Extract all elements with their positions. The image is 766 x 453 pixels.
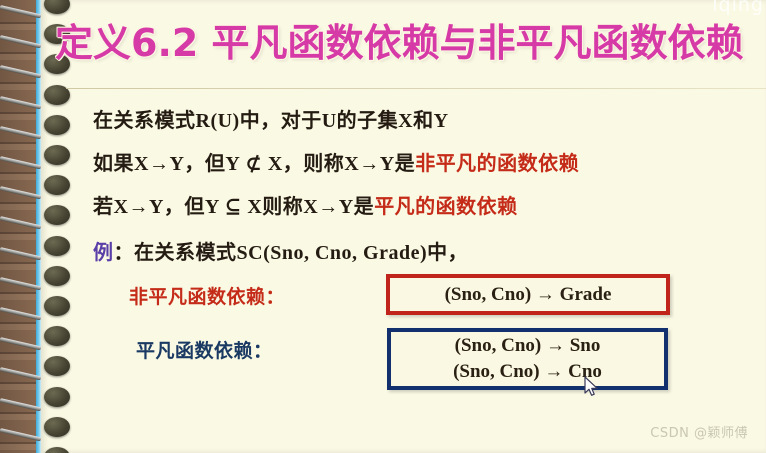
title-divider: [66, 88, 766, 89]
slide-title: 定义6.2 平凡函数依赖与非平凡函数依赖: [55, 12, 744, 67]
definition-line-3: 若X→Y，但Y ⊆ X则称X→Y是平凡的函数依赖: [93, 190, 518, 219]
definition-line-3-prefix: 若X→Y，但Y ⊆ X则称X→Y是: [93, 196, 374, 218]
spiral-ring: [44, 115, 70, 135]
spiral-ring: [44, 387, 70, 407]
definition-line-2-prefix: 如果X→Y，但Y ⊄ X，则称X→Y是: [93, 153, 415, 175]
trivial-dependency-box: (Sno, Cno) → Sno (Sno, Cno) → Cno: [387, 328, 668, 390]
trivial-fd-expression-1: (Sno, Cno) → Sno: [455, 333, 601, 359]
spiral-ring: [44, 417, 70, 437]
mouse-cursor-icon: [584, 376, 599, 398]
nontrivial-dependency-box: (Sno, Cno) → Grade: [386, 274, 670, 315]
spiral-ring: [44, 236, 70, 256]
definition-line-2: 如果X→Y，但Y ⊄ X，则称X→Y是非平凡的函数依赖: [93, 147, 579, 176]
definition-line-3-highlight: 平凡的函数依赖: [374, 196, 518, 218]
definition-line-1: 在关系模式R(U)中，对于U的子集X和Y: [93, 104, 449, 133]
example-line: 例：在关系模式SC(Sno, Cno, Grade)中，: [93, 236, 468, 265]
spiral-ring: [44, 296, 70, 316]
spiral-ring: [44, 266, 70, 286]
slide-title-band: 定义6.2 平凡函数依赖与非平凡函数依赖: [55, 8, 766, 70]
label-nontrivial-dependency: 非平凡函数依赖：: [129, 282, 285, 309]
nontrivial-fd-expression-1: (Sno, Cno) → Grade: [445, 282, 612, 308]
watermark-top-right: lqing: [712, 0, 764, 16]
spiral-ring: [44, 145, 70, 165]
example-text: ：在关系模式SC(Sno, Cno, Grade)中，: [114, 242, 469, 264]
watermark-bottom-right: CSDN @颖师傅: [650, 422, 748, 441]
label-trivial-dependency: 平凡函数依赖：: [136, 336, 273, 363]
example-marker: 例: [93, 242, 114, 264]
definition-line-2-highlight: 非平凡的函数依赖: [415, 153, 579, 175]
slide-canvas: 定义6.2 平凡函数依赖与非平凡函数依赖 在关系模式R(U)中，对于U的子集X和…: [0, 0, 766, 453]
trivial-fd-expression-2: (Sno, Cno) → Cno: [453, 359, 602, 385]
